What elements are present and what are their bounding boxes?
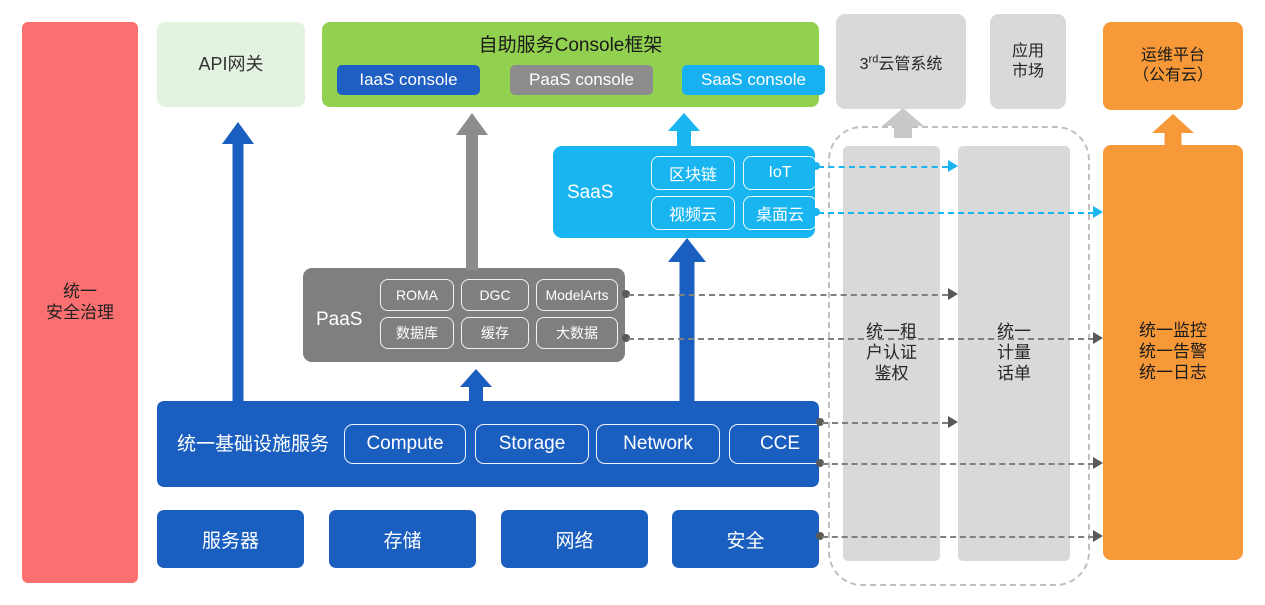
console-framework-title: 自助服务Console框架 xyxy=(322,30,819,57)
dashed-saas-to-ops xyxy=(818,212,1094,214)
saas-item-desktop-cloud[interactable]: 桌面云 xyxy=(743,196,817,230)
paas-item-bigdata[interactable]: 大数据 xyxy=(536,317,618,349)
arrow-shared-to-ops-platform xyxy=(1152,114,1194,146)
hardware-item-security[interactable]: 安全 xyxy=(672,510,819,568)
arrow-saas-to-console xyxy=(668,113,700,149)
dashed-infra-to-ops xyxy=(822,463,1094,465)
architecture-diagram: 统一 安全治理 API网关 自助服务Console框架 IaaS console… xyxy=(0,0,1265,605)
unified-tenant-auth-column: 统一租 户认证 鉴权 xyxy=(843,146,940,561)
arrowhead-paas-to-auth xyxy=(948,288,958,300)
arrow-infra-to-saas xyxy=(668,238,706,403)
hardware-item-server[interactable]: 服务器 xyxy=(157,510,304,568)
saas-item-blockchain[interactable]: 区块链 xyxy=(651,156,735,190)
saas-console-chip[interactable]: SaaS console xyxy=(682,65,825,95)
unified-infrastructure-service-layer: 统一基础设施服务 Compute Storage Network CCE xyxy=(157,401,819,487)
saas-layer: SaaS 区块链 IoT 视频云 桌面云 xyxy=(553,146,815,238)
infrastructure-layer-label: 统一基础设施服务 xyxy=(177,429,329,456)
saas-layer-label: SaaS xyxy=(567,182,613,204)
paas-item-database[interactable]: 数据库 xyxy=(380,317,454,349)
self-service-console-framework: 自助服务Console框架 IaaS console PaaS console … xyxy=(322,22,819,107)
paas-item-roma[interactable]: ROMA xyxy=(380,279,454,311)
paas-item-modelarts[interactable]: ModelArts xyxy=(536,279,618,311)
dashed-saas-to-auth xyxy=(818,166,948,168)
dashed-paas-to-auth xyxy=(628,294,948,296)
paas-console-chip[interactable]: PaaS console xyxy=(510,65,653,95)
arrowhead-saas-to-ops xyxy=(1093,206,1103,218)
third-party-cloud-management-label: 3rd云管系统 xyxy=(860,50,943,74)
dashed-paas-to-ops xyxy=(628,338,1094,340)
unified-monitoring-alarm-log-box: 统一监控 统一告警 统一日志 xyxy=(1103,145,1243,560)
arrowhead-paas-to-ops xyxy=(1093,332,1103,344)
paas-item-dgc[interactable]: DGC xyxy=(461,279,529,311)
arrowhead-hardware-to-ops xyxy=(1093,530,1103,542)
arrow-infra-to-paas xyxy=(460,369,492,403)
ordinal-suffix: rd xyxy=(869,53,879,65)
third-party-cloud-management-box: 3rd云管系统 xyxy=(836,14,966,109)
iaas-console-chip[interactable]: IaaS console xyxy=(337,65,480,95)
dashed-hardware-to-ops xyxy=(822,536,1094,538)
infra-item-compute[interactable]: Compute xyxy=(344,424,466,464)
arrow-infra-to-api-gateway xyxy=(222,122,254,402)
saas-item-video-cloud[interactable]: 视频云 xyxy=(651,196,735,230)
app-market-box: 应用 市场 xyxy=(990,14,1066,109)
infra-item-storage[interactable]: Storage xyxy=(475,424,589,464)
arrowhead-infra-to-ops xyxy=(1093,457,1103,469)
unified-metering-billing-column: 统一 计量 话单 xyxy=(958,146,1070,561)
paas-item-cache[interactable]: 缓存 xyxy=(461,317,529,349)
unified-security-governance-pillar: 统一 安全治理 xyxy=(22,22,138,583)
ops-platform-public-cloud-box: 运维平台 （公有云） xyxy=(1103,22,1243,110)
infra-item-cce[interactable]: CCE xyxy=(729,424,831,464)
hardware-item-storage[interactable]: 存储 xyxy=(329,510,476,568)
dashed-infra-to-auth xyxy=(822,422,948,424)
hardware-item-network[interactable]: 网络 xyxy=(501,510,648,568)
infra-item-network[interactable]: Network xyxy=(596,424,720,464)
arrowhead-infra-to-auth xyxy=(948,416,958,428)
paas-layer-label: PaaS xyxy=(316,309,362,331)
paas-layer: PaaS ROMA DGC ModelArts 数据库 缓存 大数据 xyxy=(303,268,625,362)
arrow-shared-to-third-cloud xyxy=(882,108,924,138)
saas-item-iot[interactable]: IoT xyxy=(743,156,817,190)
api-gateway-box: API网关 xyxy=(157,22,305,107)
arrowhead-saas-to-auth xyxy=(948,160,958,172)
arrow-paas-to-console xyxy=(456,113,488,270)
